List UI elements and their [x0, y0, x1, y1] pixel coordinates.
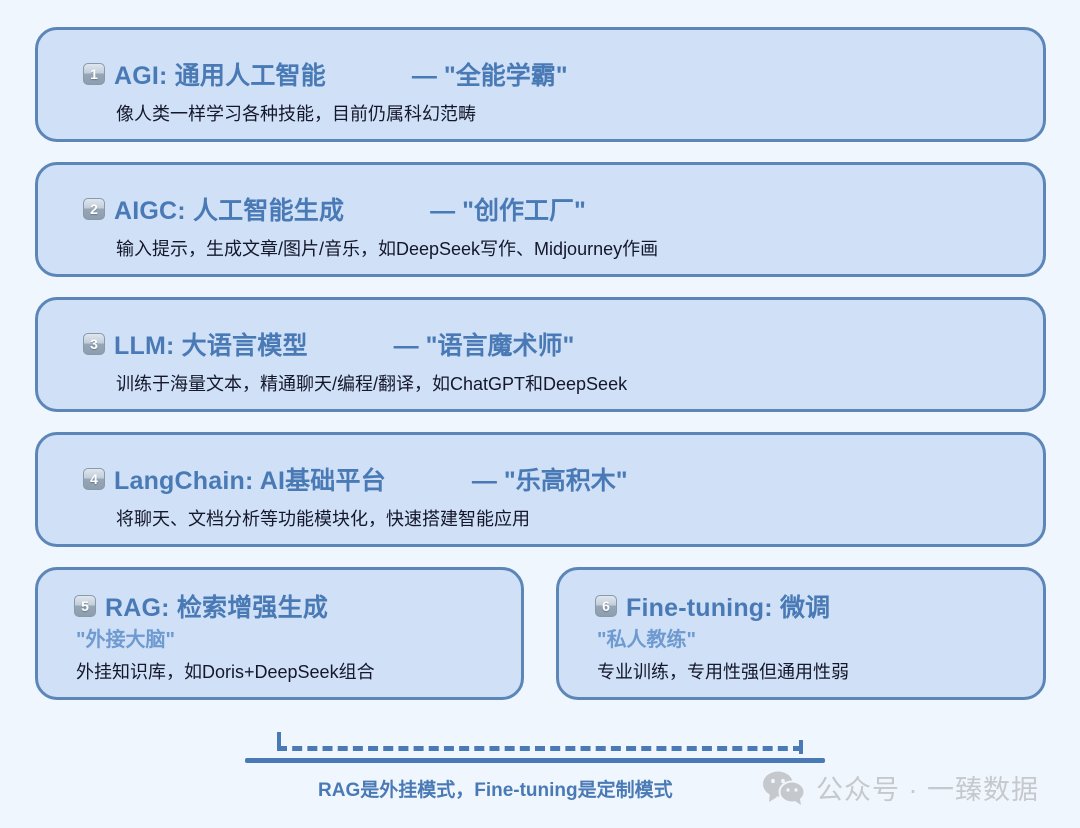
- concept-card-langchain: 4 LangChain: AI基础平台 — "乐高积木" 将聊天、文档分析等功能…: [35, 432, 1046, 547]
- card-title: AGI: 通用人工智能: [114, 56, 326, 92]
- card-description: 输入提示，生成文章/图片/音乐，如DeepSeek写作、Midjourney作画: [116, 235, 658, 261]
- card-title-row: 6 Fine-tuning: 微调: [595, 588, 830, 624]
- card-nickname: — "创作工厂": [430, 191, 586, 227]
- card-nickname: "私人教练": [597, 623, 696, 652]
- card-title-row: 5 RAG: 检索增强生成: [74, 588, 328, 624]
- concept-card-agi: 1 AGI: 通用人工智能 — "全能学霸" 像人类一样学习各种技能，目前仍属科…: [35, 27, 1046, 142]
- card-title: LLM: 大语言模型: [114, 326, 308, 362]
- concept-card-fine-tuning: 6 Fine-tuning: 微调 "私人教练" 专业训练，专用性强但通用性弱: [556, 567, 1046, 700]
- concept-card-aigc: 2 AIGC: 人工智能生成 — "创作工厂" 输入提示，生成文章/图片/音乐，…: [35, 162, 1046, 277]
- card-description: 将聊天、文档分析等功能模块化，快速搭建智能应用: [116, 505, 530, 531]
- watermark-text: 公众号 · 一臻数据: [816, 768, 1039, 807]
- card-title-row: 2 AIGC: 人工智能生成 — "创作工厂": [83, 191, 586, 227]
- bracket-solid-line-icon: [245, 758, 825, 763]
- infographic-board: 1 AGI: 通用人工智能 — "全能学霸" 像人类一样学习各种技能，目前仍属科…: [0, 0, 1080, 828]
- card-title: RAG: 检索增强生成: [105, 588, 328, 624]
- card-title-row: 3 LLM: 大语言模型 — "语言魔术师": [83, 326, 574, 362]
- bracket-tick-left-icon: [277, 732, 281, 746]
- number-badge-icon: 2: [83, 198, 105, 220]
- card-nickname: "外接大脑": [76, 623, 175, 652]
- concept-card-rag: 5 RAG: 检索增强生成 "外接大脑" 外挂知识库，如Doris+DeepSe…: [35, 567, 524, 700]
- card-description: 专业训练，专用性强但通用性弱: [597, 658, 849, 684]
- footer-bracket-diagram: [245, 728, 845, 774]
- number-badge-icon: 3: [83, 333, 105, 355]
- watermark: 公众号 · 一臻数据: [762, 768, 1039, 807]
- card-description: 像人类一样学习各种技能，目前仍属科幻范畴: [116, 100, 476, 126]
- wechat-icon: [762, 771, 806, 805]
- card-title: LangChain: AI基础平台: [114, 461, 386, 497]
- card-title: AIGC: 人工智能生成: [114, 191, 344, 227]
- concept-card-llm: 3 LLM: 大语言模型 — "语言魔术师" 训练于海量文本，精通聊天/编程/翻…: [35, 297, 1046, 412]
- card-nickname: — "全能学霸": [412, 56, 568, 92]
- card-nickname: — "乐高积木": [472, 461, 628, 497]
- number-badge-icon: 1: [83, 63, 105, 85]
- card-title-row: 1 AGI: 通用人工智能 — "全能学霸": [83, 56, 568, 92]
- footer-caption: RAG是外挂模式，Fine-tuning是定制模式: [318, 775, 673, 802]
- card-title-row: 4 LangChain: AI基础平台 — "乐高积木": [83, 461, 628, 497]
- bracket-tick-right-icon: [799, 740, 803, 754]
- number-badge-icon: 4: [83, 468, 105, 490]
- number-badge-icon: 5: [74, 595, 96, 617]
- card-nickname: — "语言魔术师": [394, 326, 575, 362]
- number-badge-icon: 6: [595, 595, 617, 617]
- bracket-dashed-line-icon: [277, 746, 803, 751]
- card-title: Fine-tuning: 微调: [626, 588, 830, 624]
- card-description: 外挂知识库，如Doris+DeepSeek组合: [76, 658, 375, 684]
- card-description: 训练于海量文本，精通聊天/编程/翻译，如ChatGPT和DeepSeek: [116, 370, 627, 396]
